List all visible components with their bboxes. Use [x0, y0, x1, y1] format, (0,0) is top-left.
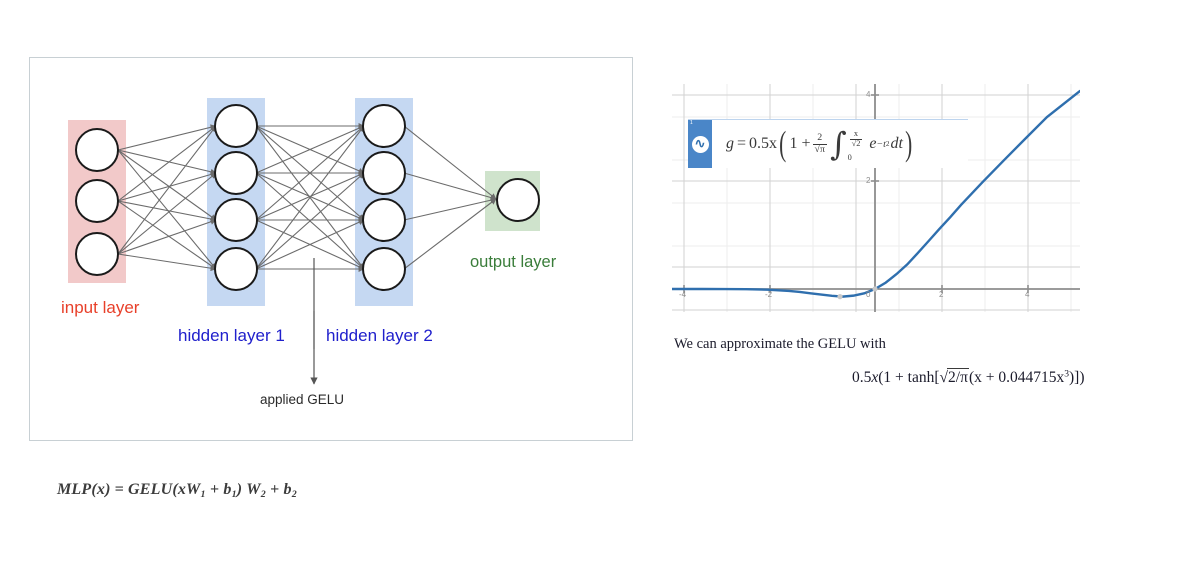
mlp-b2-subscript: 2: [292, 489, 297, 500]
formula-differential: dt: [891, 135, 903, 153]
hidden-layer-2-label: hidden layer 2: [326, 326, 433, 346]
gelu-approximation-formula: 0.5x(1 + tanh[√2/π(x + 0.044715x3)]): [852, 368, 1085, 387]
curve-point-marker: [837, 294, 842, 299]
output-layer-nodes: [497, 179, 539, 221]
approx-open: (1 + tanh[: [878, 369, 939, 386]
approximation-intro-text: We can approximate the GELU with: [674, 336, 886, 353]
upper-limit-den: √2: [850, 139, 863, 149]
applied-gelu-label: applied GELU: [260, 392, 344, 407]
legend-index-label: 1: [690, 120, 693, 126]
formula-one-plus: 1 +: [789, 135, 810, 153]
integral-upper-limit: x √2: [848, 126, 865, 149]
neuron-node: [363, 105, 405, 147]
approx-close: )]): [1069, 369, 1085, 386]
approx-inner: (x + 0.044715x: [969, 369, 1064, 386]
legend-color-swatch[interactable]: 1 ∿: [688, 120, 712, 168]
formula-frac-numerator: 2: [815, 133, 824, 143]
upper-limit-num: x: [852, 130, 860, 139]
neuron-node: [215, 152, 257, 194]
formula-equals: =: [737, 135, 746, 153]
mlp-arg-open: (xW: [172, 481, 200, 498]
formula-fraction: 2 √π: [813, 133, 827, 155]
curve-origin-marker: [872, 286, 877, 291]
mlp-label: MLP: [57, 481, 91, 498]
input-layer-label: input layer: [61, 298, 139, 318]
mlp-plus-b1: + b: [206, 481, 232, 498]
network-diagram-panel: input layer hidden layer 1 hidden layer …: [29, 57, 633, 441]
x-tick-label--2: -2: [765, 290, 772, 299]
sine-wave-icon: ∿: [692, 136, 709, 153]
formula-coefficient: 0.5x: [749, 135, 777, 153]
gelu-exact-formula: g = 0.5x ( 1 + 2 √π ∫ x √2 0 e−t2 dt: [712, 120, 968, 168]
y-tick-label-4: 4: [866, 90, 870, 99]
neuron-node: [215, 105, 257, 147]
neuron-node: [497, 179, 539, 221]
neuron-node: [363, 248, 405, 290]
neuron-node: [215, 199, 257, 241]
neuron-node: [76, 233, 118, 275]
input-layer-nodes: [76, 129, 118, 275]
mlp-w2: W: [246, 481, 260, 498]
hidden-layer-1-label: hidden layer 1: [178, 326, 285, 346]
edges-hidden1-to-hidden2: [256, 126, 364, 269]
upper-limit-fraction: x √2: [850, 130, 863, 148]
neuron-node: [76, 180, 118, 222]
x-tick-label--4: -4: [679, 290, 686, 299]
neuron-node: [215, 248, 257, 290]
plot-legend-card[interactable]: 1 ∿ g = 0.5x ( 1 + 2 √π ∫ x √2 0: [688, 119, 968, 168]
mlp-equals: =: [115, 481, 124, 498]
x-tick-label-4: 4: [1025, 290, 1029, 299]
neuron-node: [363, 199, 405, 241]
approx-lead: 0.5: [852, 369, 871, 386]
integral-lower-limit: 0: [848, 153, 852, 162]
approx-sqrt-content: 2/π: [947, 368, 969, 387]
neuron-node: [76, 129, 118, 171]
edges-hidden2-to-output: [404, 126, 496, 269]
integrand-exponent-square: 2: [886, 140, 890, 148]
edges-input-to-hidden1: [118, 126, 216, 269]
output-layer-label: output layer: [470, 253, 556, 272]
y-tick-label-2: 2: [866, 176, 870, 185]
mlp-plus-b2: + b: [266, 481, 292, 498]
formula-integral-limits: x √2 0: [848, 126, 865, 163]
x-tick-label-2: 2: [939, 290, 943, 299]
network-diagram-svg: [30, 58, 634, 442]
formula-frac-denominator: √π: [813, 144, 827, 155]
formula-lhs: g: [726, 135, 734, 153]
mlp-equation: MLP(x)=GELU(xW1 + b1)W2 + b2: [57, 481, 297, 500]
x-tick-label-0: 0: [866, 290, 870, 299]
mlp-open-x: (x): [91, 481, 110, 498]
integrand-base: e: [869, 135, 876, 153]
integrand-exponent: −t: [876, 139, 885, 150]
gelu-plot-panel: -4 -2 0 2 4 4 2 1 ∿ g = 0.5x ( 1 + 2 √π …: [672, 84, 1080, 312]
mlp-arg-close: ): [237, 481, 243, 498]
gelu-label: GELU: [128, 481, 172, 498]
neuron-node: [363, 152, 405, 194]
